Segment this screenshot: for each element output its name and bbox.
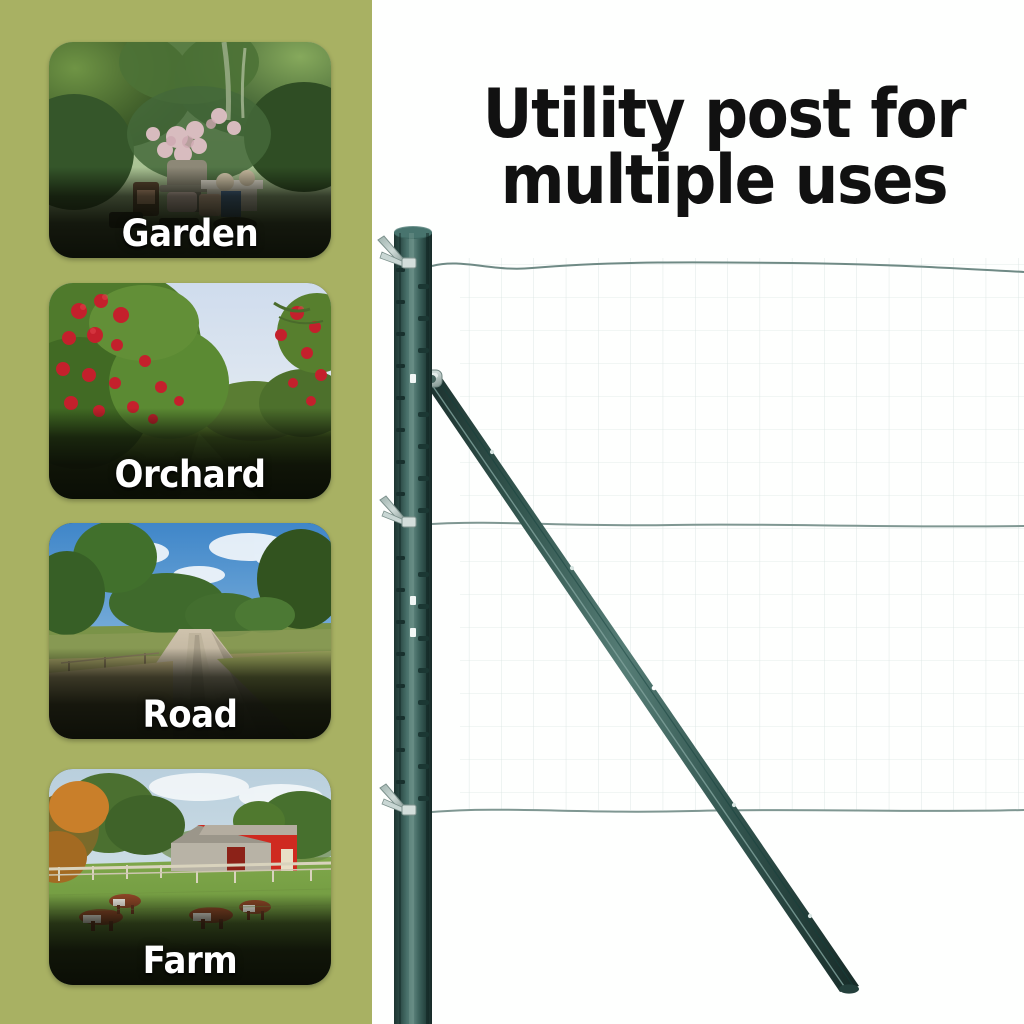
product-illustration (372, 0, 1024, 1024)
wire-mesh (432, 258, 1024, 812)
product-infographic: Garden (0, 0, 1024, 1024)
vertical-post (394, 226, 432, 1024)
use-case-card-label: Farm (60, 942, 319, 979)
use-case-card-road[interactable]: Road (49, 523, 331, 739)
product-panel: Utility post for multiple uses (372, 0, 1024, 1024)
use-case-card-farm[interactable]: Farm (49, 769, 331, 985)
use-case-card-orchard[interactable]: Orchard (49, 283, 331, 499)
use-case-card-label: Garden (60, 215, 319, 252)
use-case-card-label: Orchard (60, 456, 319, 493)
use-case-card-label: Road (60, 696, 319, 733)
use-case-sidebar: Garden (0, 0, 372, 1024)
use-case-card-garden[interactable]: Garden (49, 42, 331, 258)
